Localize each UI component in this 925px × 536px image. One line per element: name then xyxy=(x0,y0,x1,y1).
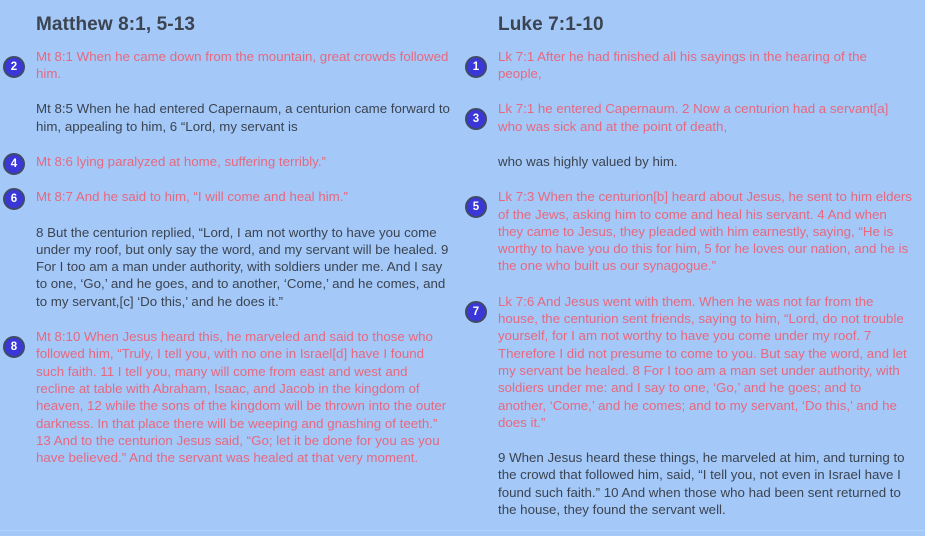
verse-text: Lk 7:3 When the centurion[b] heard about… xyxy=(498,188,912,274)
verse-block[interactable]: 6 Mt 8:7 And he said to him, “I will com… xyxy=(36,188,450,205)
verse-text: Mt 8:5 When he had entered Capernaum, a … xyxy=(36,100,450,135)
verse-text: Mt 8:6 lying paralyzed at home, sufferin… xyxy=(36,153,450,170)
verse-text: Lk 7:1 After he had finished all his say… xyxy=(498,48,912,83)
verse-marker[interactable]: 7 xyxy=(465,301,487,323)
verse-marker[interactable]: 8 xyxy=(3,336,25,358)
verse-block[interactable]: 4 Mt 8:6 lying paralyzed at home, suffer… xyxy=(36,153,450,170)
verse-marker[interactable]: 5 xyxy=(465,196,487,218)
verse-text: Lk 7:6 And Jesus went with them. When he… xyxy=(498,293,912,431)
verse-text: 8 But the centurion replied, “Lord, I am… xyxy=(36,224,450,310)
verse-block[interactable]: Mt 8:5 When he had entered Capernaum, a … xyxy=(36,100,450,135)
verse-block[interactable]: 8 Mt 8:10 When Jesus heard this, he marv… xyxy=(36,328,450,466)
verse-text: who was highly valued by him. xyxy=(498,153,912,170)
verse-marker[interactable]: 1 xyxy=(465,56,487,78)
column-title-luke: Luke 7:1-10 xyxy=(498,0,912,48)
verse-marker[interactable]: 4 xyxy=(3,153,25,175)
verse-block[interactable]: 3 Lk 7:1 he entered Capernaum. 2 Now a c… xyxy=(498,100,912,135)
verse-block[interactable]: 2 Mt 8:1 When he came down from the moun… xyxy=(36,48,450,83)
verse-block[interactable]: 5 Lk 7:3 When the centurion[b] heard abo… xyxy=(498,188,912,274)
verse-block[interactable]: 9 When Jesus heard these things, he marv… xyxy=(498,449,912,518)
verse-text: Mt 8:7 And he said to him, “I will come … xyxy=(36,188,450,205)
verse-text: Lk 7:1 he entered Capernaum. 2 Now a cen… xyxy=(498,100,912,135)
column-title-matthew: Matthew 8:1, 5-13 xyxy=(36,0,450,48)
gospel-parallel-view: Matthew 8:1, 5-13 2 Mt 8:1 When he came … xyxy=(0,0,925,533)
verse-block[interactable]: 7 Lk 7:6 And Jesus went with them. When … xyxy=(498,293,912,431)
column-matthew: Matthew 8:1, 5-13 2 Mt 8:1 When he came … xyxy=(0,0,462,484)
verse-text: Mt 8:10 When Jesus heard this, he marvel… xyxy=(36,328,450,466)
verse-text: Mt 8:1 When he came down from the mounta… xyxy=(36,48,450,83)
verse-block[interactable]: 8 But the centurion replied, “Lord, I am… xyxy=(36,224,450,310)
verse-block[interactable]: 1 Lk 7:1 After he had finished all his s… xyxy=(498,48,912,83)
verse-marker[interactable]: 6 xyxy=(3,188,25,210)
column-luke: Luke 7:1-10 1 Lk 7:1 After he had finish… xyxy=(462,0,924,536)
verse-block[interactable]: who was highly valued by him. xyxy=(498,153,912,170)
verse-marker[interactable]: 2 xyxy=(3,56,25,78)
verse-marker[interactable]: 3 xyxy=(465,108,487,130)
verse-text: 9 When Jesus heard these things, he marv… xyxy=(498,449,912,518)
